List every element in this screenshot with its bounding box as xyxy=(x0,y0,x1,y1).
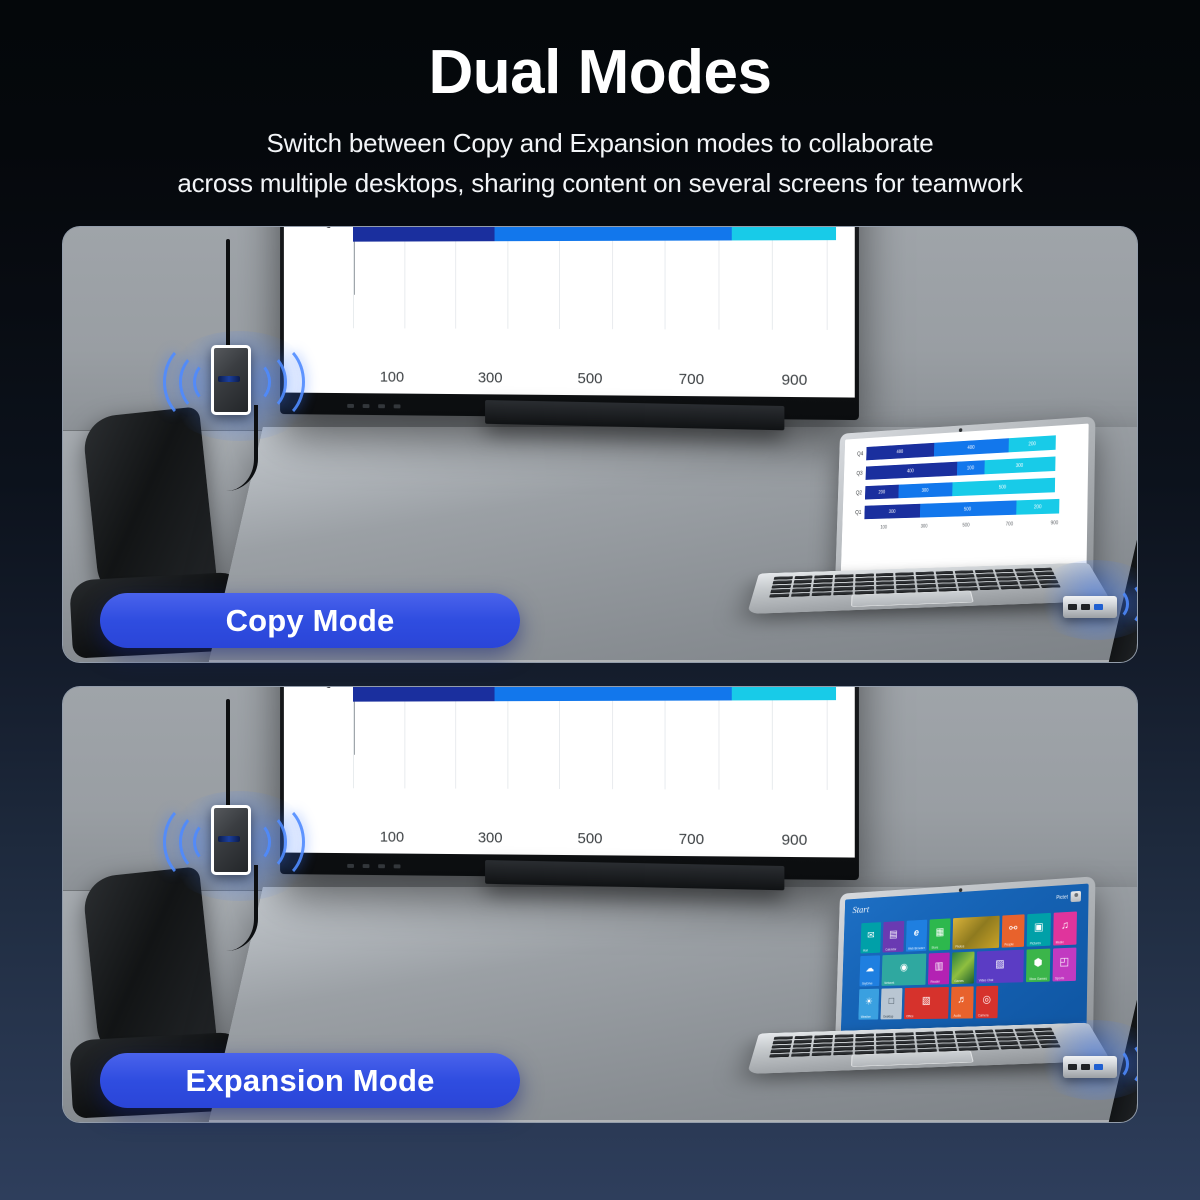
x-tick: 500 xyxy=(540,829,641,847)
bar-segment: 500 xyxy=(920,500,1016,517)
people-icon: ⚯ xyxy=(1009,922,1017,935)
hub-port-usb3-icon xyxy=(1094,604,1103,610)
wireless-display-adapter xyxy=(211,805,251,875)
bar-segment: 300 xyxy=(353,686,494,702)
display-screen: Q2 200 300 500 Q1 300 xyxy=(284,226,855,398)
x-tick: 700 xyxy=(640,370,742,388)
start-tile-grid: ✉ Mail ▤ Calendar e Web Browser xyxy=(858,911,1077,1019)
chart-gridlines xyxy=(353,686,828,790)
chart-row-q1: Q1 300 500 200 xyxy=(293,686,836,702)
chart-row-label: Q1 xyxy=(293,226,353,230)
x-tick: 100 xyxy=(343,828,441,846)
laptop-screen: Start Pictet ✉ Mail ▤ C xyxy=(841,884,1089,1033)
tile-music[interactable]: ♫ Music xyxy=(1053,911,1077,945)
x-tick: 900 xyxy=(743,831,847,849)
tv-bar-chart: Q2 200 300 500 Q1 300 xyxy=(284,686,855,858)
x-tick: 500 xyxy=(945,522,988,529)
adapter-led-icon xyxy=(218,376,240,382)
camera-icon: ◎ xyxy=(982,993,991,1005)
adapter-cable-top xyxy=(226,699,230,811)
x-tick: 900 xyxy=(1032,520,1078,527)
tile-label: Calendar xyxy=(885,947,896,951)
mail-icon: ✉ xyxy=(867,929,875,941)
user-name: Pictet xyxy=(1056,894,1068,900)
hub-port-usb3-icon xyxy=(1094,1064,1103,1070)
bar-segment: 200 xyxy=(1009,435,1056,452)
reader-icon: ▥ xyxy=(935,960,944,972)
chart-x-axis: 100 300 500 700 900 xyxy=(343,822,846,856)
chart-row-label: Q1 xyxy=(293,686,353,690)
mini-row-label: Q3 xyxy=(849,471,866,477)
x-tick: 300 xyxy=(904,523,945,530)
user-account[interactable]: Pictet xyxy=(1056,891,1081,903)
tile-label: Camera xyxy=(978,1013,989,1017)
tile-label: Games xyxy=(954,979,963,983)
x-tick: 700 xyxy=(640,830,742,848)
tv-bar-chart: Q2 200 300 500 Q1 300 xyxy=(284,226,855,398)
usb-c-hub xyxy=(1063,596,1117,618)
subtitle-line-1: Switch between Copy and Expansion modes … xyxy=(70,123,1130,163)
tile-pictures[interactable]: ▣ Pictures xyxy=(1027,913,1051,947)
tile-label: Xbox Games xyxy=(1029,977,1047,981)
chart-row-q1: Q1 300 500 200 xyxy=(293,226,836,242)
tile-label: Weather xyxy=(861,1015,871,1019)
hub-port-icon xyxy=(1081,604,1090,610)
tile-sports[interactable]: ◰ Sports xyxy=(1052,948,1076,982)
tile-label: Mail xyxy=(863,949,868,953)
chart-plot-area: Q2 200 300 500 Q1 300 xyxy=(293,226,836,330)
tile-label: Office xyxy=(906,1014,913,1018)
display-ports xyxy=(347,864,400,868)
laptop-lid: Q4 400 400 200 Q3 400 100 xyxy=(835,416,1095,584)
cloud-icon: ☁ xyxy=(865,963,874,975)
page-title: Dual Modes xyxy=(0,40,1200,105)
bar-segment: 200 xyxy=(1016,499,1059,515)
tile-label: Video Chat xyxy=(979,978,994,982)
mini-chart-x-axis: 100 300 500 700 900 xyxy=(864,520,1078,531)
bar-segment: 200 xyxy=(732,226,836,240)
start-heading: Start xyxy=(852,904,869,916)
mini-row-label: Q1 xyxy=(847,510,864,516)
display-ports xyxy=(347,404,400,408)
tile-label: Audio xyxy=(954,1014,962,1018)
avatar xyxy=(1071,891,1081,902)
tile-office[interactable]: ▧ Office xyxy=(904,987,949,1019)
display-bezel: Q2 200 300 500 Q1 300 xyxy=(280,226,859,420)
adapter-cable-top xyxy=(226,239,230,351)
bar-segment: 500 xyxy=(494,686,731,701)
chart-plot-area: Q2 200 300 500 Q1 300 xyxy=(293,686,836,790)
sports-icon: ◰ xyxy=(1059,955,1069,968)
headphones-icon: ♬ xyxy=(957,994,967,1005)
laptop-expansion-mode: Start Pictet ✉ Mail ▤ C xyxy=(761,874,1101,1104)
x-tick: 700 xyxy=(987,521,1031,528)
expansion-mode-badge[interactable]: Expansion Mode xyxy=(100,1053,520,1108)
bar-segment: 500 xyxy=(494,226,731,241)
x-tick: 900 xyxy=(743,371,847,389)
chart-x-axis: 100 300 500 700 900 xyxy=(343,362,846,396)
x-tick: 100 xyxy=(864,524,904,530)
windows-start-screen: Start Pictet ✉ Mail ▤ C xyxy=(841,884,1089,1033)
tile-label: People xyxy=(1004,942,1013,946)
tile-people[interactable]: ⚯ People xyxy=(1002,914,1025,947)
tile-label: Reader xyxy=(930,980,939,984)
music-icon: ♫ xyxy=(1061,920,1069,932)
tile-games[interactable]: Games xyxy=(952,952,974,984)
calendar-icon: ▤ xyxy=(889,928,898,940)
weather-icon: ☀ xyxy=(865,996,873,1008)
tile-skydrive[interactable]: ☁ SkyDrive xyxy=(859,955,880,986)
tile-video-chat[interactable]: ▨ Video Chat xyxy=(976,950,1024,984)
tile-mail[interactable]: ✉ Mail xyxy=(860,922,881,953)
mini-row-label: Q2 xyxy=(848,490,865,496)
hub-port-icon xyxy=(1068,604,1077,610)
laptop-copy-mode: Q4 400 400 200 Q3 400 100 xyxy=(761,414,1101,644)
display-bezel: Q2 200 300 500 Q1 300 xyxy=(280,686,859,880)
tile-label: Music xyxy=(1056,940,1064,944)
bar-segment: 100 xyxy=(957,460,985,475)
tile-xbox[interactable]: ⬢ Xbox Games xyxy=(1026,949,1050,983)
x-tick: 500 xyxy=(540,369,641,387)
x-tick: 100 xyxy=(343,368,441,386)
copy-mode-badge[interactable]: Copy Mode xyxy=(100,593,520,648)
tile-photos[interactable]: Photos xyxy=(953,916,1000,950)
tile-label: Sports xyxy=(1055,976,1064,980)
office-icon: ▧ xyxy=(922,995,931,1007)
wireless-display-adapter xyxy=(211,345,251,415)
desktop-icon: □ xyxy=(889,996,895,1007)
gallery-icon: ▣ xyxy=(1034,921,1044,934)
tile-label: Photos xyxy=(955,945,964,949)
hub-port-icon xyxy=(1081,1064,1090,1070)
chart-gridlines xyxy=(353,226,828,330)
page-subtitle: Switch between Copy and Expansion modes … xyxy=(70,123,1130,204)
browser-icon: e xyxy=(914,928,919,939)
laptop-base xyxy=(747,563,1111,614)
tile-network[interactable]: ◉ Network xyxy=(882,954,927,986)
display-screen: Q2 200 300 500 Q1 300 xyxy=(284,686,855,858)
mini-chart-row: Q2 200 300 500 xyxy=(848,477,1079,500)
bar-segment: 400 xyxy=(866,443,934,461)
tile-label: SkyDrive xyxy=(862,982,873,986)
bar-segment: 200 xyxy=(732,686,836,700)
tile-desktop[interactable]: □ Desktop xyxy=(881,988,902,1019)
bar-segment: 300 xyxy=(899,482,953,498)
tile-label: Pictures xyxy=(1030,941,1041,945)
tile-weather[interactable]: ☀ Weather xyxy=(858,989,879,1020)
bar-segment: 200 xyxy=(865,485,899,500)
x-tick: 300 xyxy=(441,829,540,847)
tile-label: Web Browser xyxy=(908,946,925,950)
tile-calendar[interactable]: ▤ Calendar xyxy=(883,921,904,953)
hub-port-icon xyxy=(1068,1064,1077,1070)
tile-label: Store xyxy=(931,946,938,950)
laptop-lid: Start Pictet ✉ Mail ▤ C xyxy=(835,876,1095,1044)
tile-browser[interactable]: e Web Browser xyxy=(906,920,928,952)
usb-c-hub xyxy=(1063,1056,1117,1078)
tile-label: Desktop xyxy=(883,1015,893,1019)
laptop-screen: Q4 400 400 200 Q3 400 100 xyxy=(841,424,1089,573)
subtitle-line-2: across multiple desktops, sharing conten… xyxy=(70,163,1130,203)
laptop-bar-chart: Q4 400 400 200 Q3 400 100 xyxy=(841,424,1089,573)
x-tick: 300 xyxy=(441,369,540,387)
bar-segment: 400 xyxy=(866,462,957,480)
store-icon: ▦ xyxy=(935,926,944,938)
tile-store[interactable]: ▦ Store xyxy=(929,918,951,950)
tile-reader[interactable]: ▥ Reader xyxy=(928,953,950,985)
bar-segment: 400 xyxy=(934,438,1009,456)
network-icon: ◉ xyxy=(900,961,908,973)
wall-display: Q2 200 300 500 Q1 300 xyxy=(280,226,859,420)
wall-display: Q2 200 300 500 Q1 300 xyxy=(280,686,859,880)
bar-segment: 500 xyxy=(952,478,1055,496)
tile-label: Network xyxy=(884,981,894,985)
xbox-icon: ⬢ xyxy=(1034,956,1043,969)
adapter-led-icon xyxy=(218,836,240,842)
header: Dual Modes Switch between Copy and Expan… xyxy=(0,0,1200,204)
bar-segment: 300 xyxy=(984,456,1055,474)
video-icon: ▨ xyxy=(995,958,1004,971)
tile-audio[interactable]: ♬ Audio xyxy=(951,986,973,1018)
bar-segment: 300 xyxy=(864,504,920,519)
bar-segment: 300 xyxy=(353,226,494,242)
laptop-base xyxy=(747,1023,1111,1074)
mini-chart-row: Q1 300 500 200 xyxy=(847,498,1078,519)
tile-camera[interactable]: ◎ Camera xyxy=(975,986,998,1019)
mini-row-label: Q4 xyxy=(849,451,866,457)
